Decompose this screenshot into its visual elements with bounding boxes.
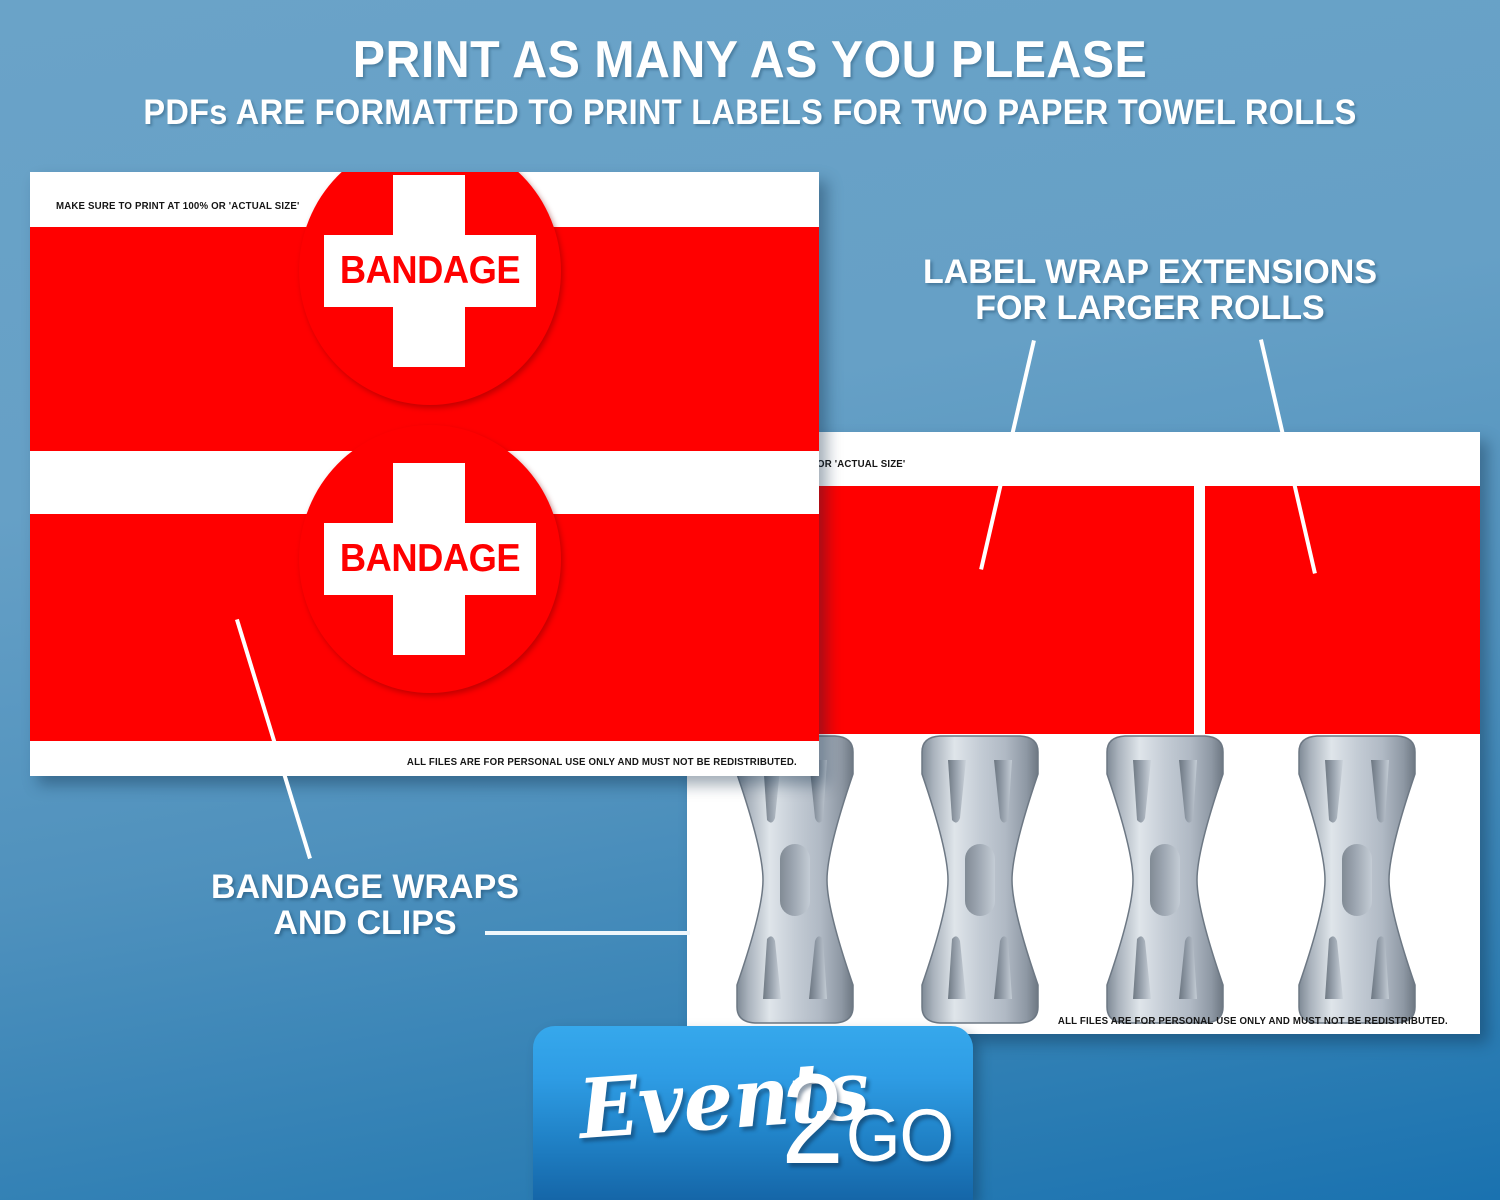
callout-right-line1: LABEL WRAP EXTENSIONS (900, 255, 1400, 291)
bandage-clip (715, 732, 875, 1032)
printable-sheet-front[interactable]: MAKE SURE TO PRINT AT 100% OR 'ACTUAL SI… (30, 172, 819, 776)
callout-left-line2: AND CLIPS (180, 906, 550, 942)
page-header: PRINT AS MANY AS YOU PLEASE PDFs ARE FOR… (0, 0, 1500, 130)
footer-note-back: ALL FILES ARE FOR PERSONAL USE ONLY AND … (1058, 1015, 1448, 1027)
print-note-back: OR 'ACTUAL SIZE' (817, 458, 905, 470)
footer-note-front: ALL FILES ARE FOR PERSONAL USE ONLY AND … (407, 756, 797, 768)
bandage-clip (900, 732, 1060, 1032)
events2go-logo[interactable]: Events 2 GO (533, 1026, 973, 1200)
page-subtitle: PDFs ARE FORMATTED TO PRINT LABELS FOR T… (53, 95, 1448, 130)
callout-right-line2: FOR LARGER ROLLS (900, 291, 1400, 327)
bandage-clip (1277, 732, 1437, 1032)
print-note-front: MAKE SURE TO PRINT AT 100% OR 'ACTUAL SI… (56, 200, 299, 212)
bandage-label-text: BANDAGE (308, 249, 552, 293)
label-extension-left (819, 486, 1194, 734)
bandage-label-text: BANDAGE (308, 537, 552, 581)
label-extension-right (1205, 486, 1480, 734)
bandage-label-circle: BANDAGE (299, 425, 561, 693)
callout-label-wrap-extensions: LABEL WRAP EXTENSIONS FOR LARGER ROLLS (900, 255, 1400, 326)
logo-go-text: GO (846, 1099, 953, 1173)
logo-numeral-two: 2 (781, 1056, 844, 1184)
page-title: PRINT AS MANY AS YOU PLEASE (53, 34, 1448, 86)
leader-line-clips-horizontal (485, 931, 690, 935)
bandage-clip (1085, 732, 1245, 1032)
callout-left-line1: BANDAGE WRAPS (180, 870, 550, 906)
